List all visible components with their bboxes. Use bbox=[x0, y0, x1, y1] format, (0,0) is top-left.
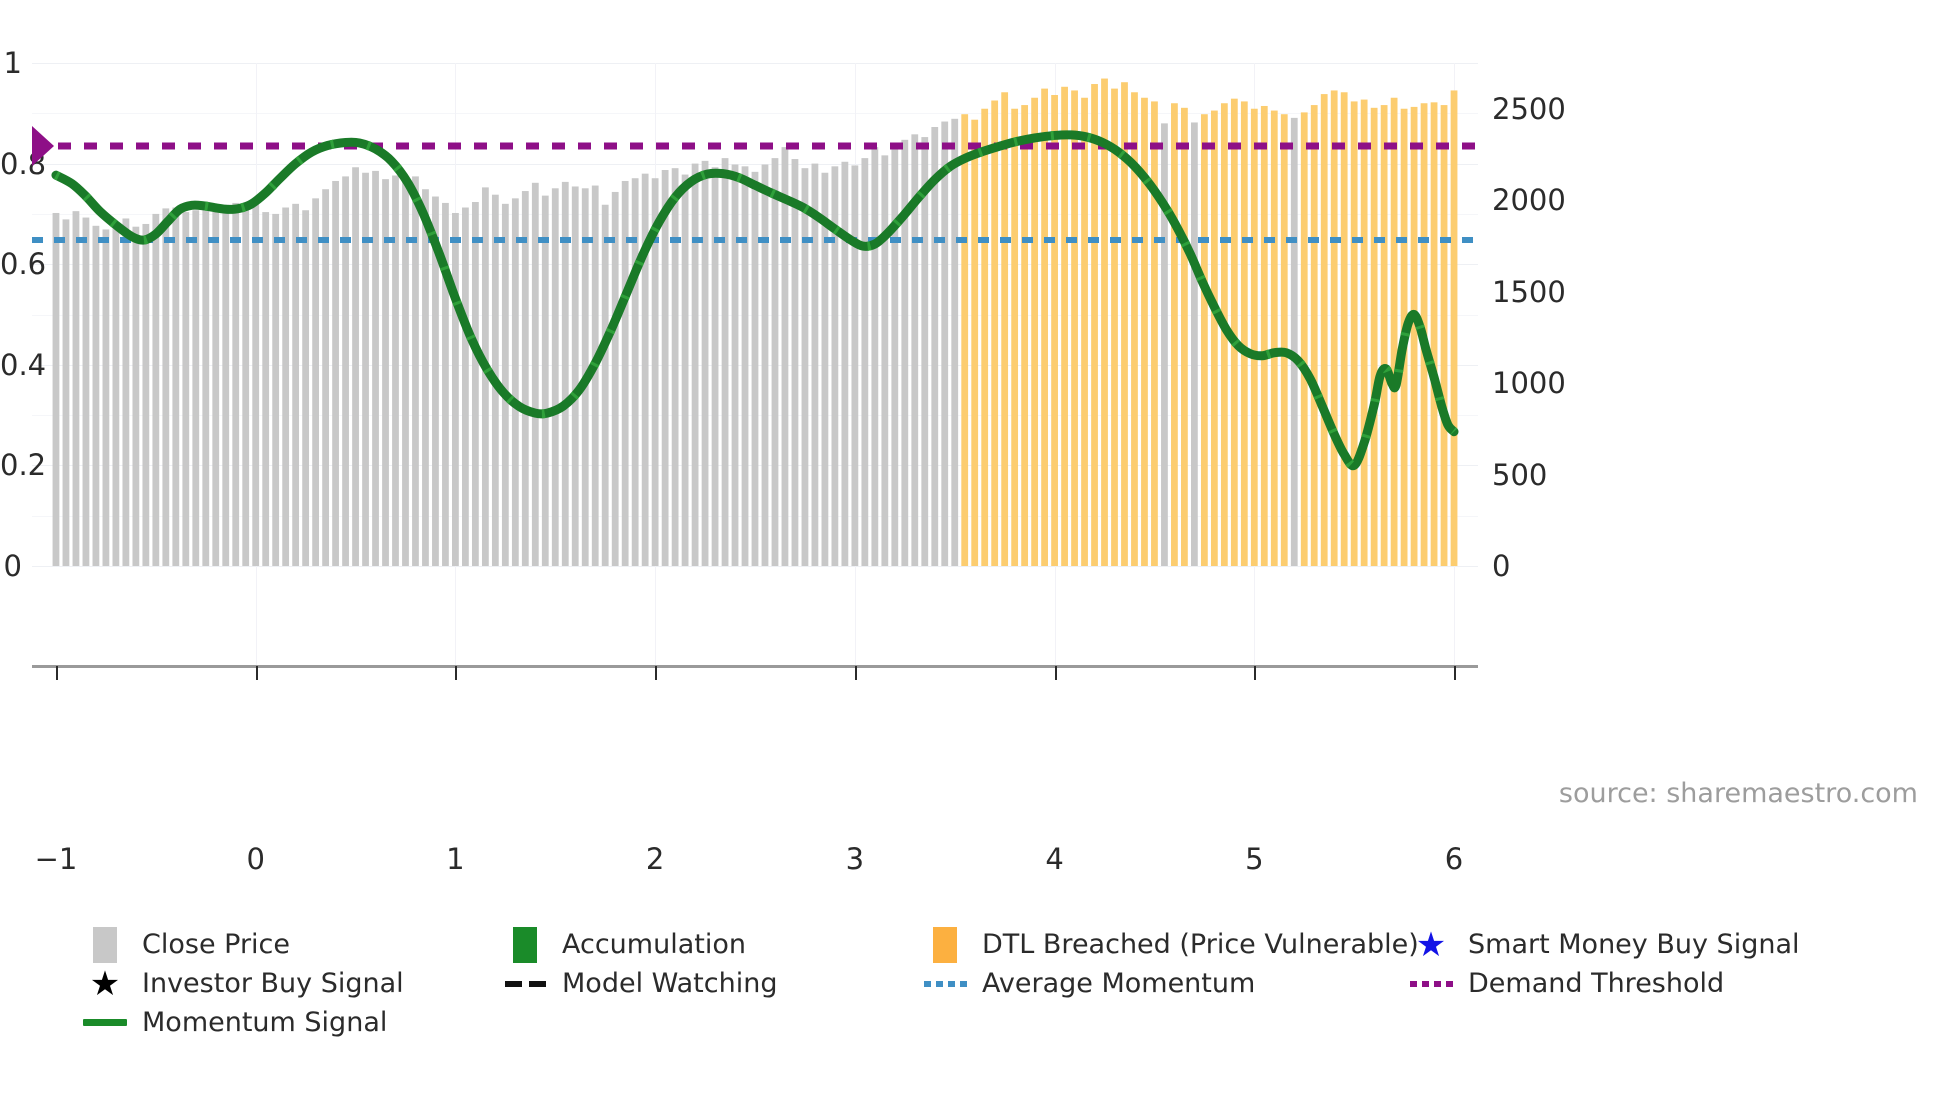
bar bbox=[841, 162, 848, 566]
right-axis-tick-label: 1000 bbox=[1492, 366, 1566, 400]
bar bbox=[1381, 105, 1388, 566]
bar bbox=[412, 176, 419, 566]
bar bbox=[312, 198, 319, 566]
right-axis-tick-label: 1500 bbox=[1492, 275, 1566, 309]
bar bbox=[352, 167, 359, 566]
bar bbox=[1331, 90, 1338, 566]
bar bbox=[1051, 95, 1058, 566]
x-axis-tick-label: 5 bbox=[1245, 842, 1263, 876]
legend-label: Close Price bbox=[134, 929, 290, 960]
grid-line bbox=[32, 566, 1478, 567]
bar bbox=[921, 137, 928, 566]
left-axis-tick-label: 0.8 bbox=[0, 147, 22, 181]
bar bbox=[322, 189, 329, 566]
bar bbox=[782, 147, 789, 566]
bar bbox=[941, 122, 948, 566]
solid-line-icon bbox=[76, 1019, 134, 1026]
x-axis-tick-label: 4 bbox=[1045, 842, 1063, 876]
chart-root: 00.20.40.60.81 05001000150020002500 −101… bbox=[0, 0, 1960, 1102]
legend-row-1: Close Price Accumulation DTL Breached (P… bbox=[76, 925, 1946, 964]
left-axis-tick-label: 0.4 bbox=[0, 348, 22, 382]
bar bbox=[1261, 106, 1268, 566]
bar bbox=[192, 210, 199, 566]
bar bbox=[1241, 101, 1248, 566]
legend-item-model-watching[interactable]: Model Watching bbox=[496, 968, 916, 999]
bar bbox=[132, 227, 139, 566]
bar bbox=[1031, 98, 1038, 566]
bar bbox=[1451, 90, 1458, 566]
bar bbox=[552, 188, 559, 566]
bar bbox=[142, 224, 149, 566]
bar bbox=[672, 168, 679, 566]
square-swatch-icon bbox=[916, 927, 974, 963]
bar bbox=[73, 211, 80, 566]
x-axis-tick-label: 6 bbox=[1445, 842, 1463, 876]
bar bbox=[462, 208, 469, 567]
x-axis-tick-label: 2 bbox=[646, 842, 664, 876]
bar bbox=[1161, 123, 1168, 566]
dotted-line-icon bbox=[1402, 981, 1460, 987]
bar bbox=[1191, 122, 1198, 566]
x-axis-tick bbox=[1254, 666, 1256, 680]
demand-threshold-marker bbox=[32, 126, 54, 166]
bar bbox=[1171, 103, 1178, 566]
bar bbox=[472, 202, 479, 566]
x-axis-tick bbox=[1055, 666, 1057, 680]
bar bbox=[1341, 92, 1348, 566]
right-axis-tick-label: 2000 bbox=[1492, 183, 1566, 217]
x-axis-tick-label: 3 bbox=[846, 842, 864, 876]
source-note: source: sharemaestro.com bbox=[1559, 778, 1918, 809]
bar bbox=[812, 164, 819, 566]
bar bbox=[891, 148, 898, 566]
bar bbox=[682, 175, 689, 566]
bar bbox=[392, 175, 399, 566]
dotted-line-icon bbox=[916, 981, 974, 987]
right-axis-tick-label: 500 bbox=[1492, 458, 1547, 492]
bar bbox=[1281, 114, 1288, 566]
right-axis-tick-label: 0 bbox=[1492, 549, 1510, 583]
legend-item-demand-threshold[interactable]: Demand Threshold bbox=[1402, 968, 1724, 999]
bar bbox=[93, 226, 100, 566]
bar bbox=[702, 161, 709, 566]
bar bbox=[452, 213, 459, 566]
bar bbox=[122, 218, 129, 566]
x-axis-tick-label: 1 bbox=[446, 842, 464, 876]
bar bbox=[232, 203, 239, 566]
bar bbox=[712, 167, 719, 566]
bar bbox=[1301, 112, 1308, 566]
legend-label: DTL Breached (Price Vulnerable) bbox=[974, 929, 1419, 960]
legend-item-close-price[interactable]: Close Price bbox=[76, 927, 496, 963]
bar-series bbox=[53, 79, 1458, 566]
bar bbox=[1321, 94, 1328, 566]
x-axis-tick bbox=[56, 666, 58, 680]
bar bbox=[1181, 108, 1188, 566]
bar bbox=[302, 210, 309, 566]
bar bbox=[991, 101, 998, 567]
bar bbox=[372, 171, 379, 566]
bar bbox=[981, 109, 988, 566]
bar bbox=[272, 214, 279, 566]
bar bbox=[282, 208, 289, 567]
square-swatch-icon bbox=[76, 927, 134, 963]
bar bbox=[532, 183, 539, 566]
chart-canvas bbox=[32, 63, 1478, 566]
legend-item-accumulation[interactable]: Accumulation bbox=[496, 927, 916, 963]
legend-item-investor-buy-signal[interactable]: ★ Investor Buy Signal bbox=[76, 967, 496, 1001]
bar bbox=[1311, 105, 1318, 566]
bar bbox=[722, 158, 729, 566]
bar bbox=[332, 181, 339, 566]
star-icon: ★ bbox=[76, 967, 134, 1001]
bar bbox=[522, 191, 529, 566]
bar bbox=[1081, 98, 1088, 566]
bar bbox=[961, 114, 968, 566]
square-swatch-icon bbox=[496, 927, 554, 963]
bar bbox=[792, 159, 799, 566]
bar bbox=[901, 140, 908, 566]
bar bbox=[172, 208, 179, 567]
x-axis-tick bbox=[655, 666, 657, 680]
bar bbox=[342, 176, 349, 566]
bar bbox=[112, 223, 119, 566]
bar bbox=[1361, 100, 1368, 566]
legend-label: Demand Threshold bbox=[1460, 968, 1724, 999]
bar bbox=[612, 192, 619, 566]
legend-label: Average Momentum bbox=[974, 968, 1255, 999]
bar bbox=[1271, 111, 1278, 566]
bar bbox=[53, 213, 60, 566]
bar bbox=[83, 218, 90, 566]
bar bbox=[1411, 107, 1418, 566]
bar bbox=[1251, 109, 1258, 566]
bar bbox=[1371, 108, 1378, 566]
bar bbox=[1441, 105, 1448, 566]
bar bbox=[182, 212, 189, 566]
bar bbox=[202, 209, 209, 566]
bar bbox=[1091, 84, 1098, 566]
bar bbox=[103, 229, 110, 566]
left-axis-tick-label: 1 bbox=[0, 46, 22, 80]
bar bbox=[752, 172, 759, 566]
legend-item-smart-money-buy-signal[interactable]: ★ Smart Money Buy Signal bbox=[1402, 928, 1800, 962]
bar bbox=[212, 208, 219, 567]
bar bbox=[512, 198, 519, 566]
legend-label: Model Watching bbox=[554, 968, 777, 999]
bar bbox=[1431, 102, 1438, 566]
bar bbox=[1291, 118, 1298, 566]
legend-item-momentum-signal[interactable]: Momentum Signal bbox=[76, 1007, 496, 1038]
legend-label: Investor Buy Signal bbox=[134, 968, 404, 999]
star-icon: ★ bbox=[1402, 928, 1460, 962]
x-axis-tick bbox=[855, 666, 857, 680]
bar bbox=[1021, 105, 1028, 566]
bar bbox=[861, 158, 868, 566]
bar bbox=[931, 127, 938, 566]
bar bbox=[1041, 89, 1048, 566]
bar bbox=[1391, 98, 1398, 566]
legend-row-2: ★ Investor Buy Signal Model Watching Ave… bbox=[76, 964, 1946, 1003]
bar bbox=[162, 208, 169, 566]
bar bbox=[802, 168, 809, 566]
bar bbox=[252, 202, 259, 566]
bar bbox=[292, 204, 299, 566]
bar bbox=[572, 186, 579, 566]
x-axis-tick bbox=[1454, 666, 1456, 680]
bar bbox=[1211, 111, 1218, 566]
bar bbox=[402, 178, 409, 566]
bar bbox=[542, 196, 549, 566]
bar bbox=[951, 119, 958, 566]
bar bbox=[63, 219, 70, 566]
right-axis-tick-label: 2500 bbox=[1492, 92, 1566, 126]
legend-label: Smart Money Buy Signal bbox=[1460, 929, 1800, 960]
plot-area bbox=[32, 63, 1478, 566]
bar bbox=[642, 174, 649, 566]
bar bbox=[822, 173, 829, 566]
bar bbox=[222, 205, 229, 566]
bar bbox=[1201, 114, 1208, 566]
bar bbox=[762, 165, 769, 566]
legend-row-3: Momentum Signal bbox=[76, 1003, 1946, 1042]
legend-label: Accumulation bbox=[554, 929, 746, 960]
bar bbox=[1061, 87, 1068, 566]
bar bbox=[242, 208, 249, 566]
x-axis-tick-label: 0 bbox=[246, 842, 264, 876]
bar bbox=[362, 173, 369, 566]
bar bbox=[262, 212, 269, 566]
bar bbox=[1071, 90, 1078, 566]
legend-item-dtl-breached[interactable]: DTL Breached (Price Vulnerable) bbox=[916, 927, 1402, 963]
bar bbox=[602, 205, 609, 566]
bar bbox=[971, 120, 978, 566]
bar bbox=[1101, 79, 1108, 566]
bar bbox=[632, 178, 639, 566]
bar bbox=[662, 170, 669, 566]
bar bbox=[881, 155, 888, 566]
chart-legend: Close Price Accumulation DTL Breached (P… bbox=[76, 925, 1946, 1042]
bar bbox=[742, 166, 749, 566]
dashed-line-icon bbox=[496, 981, 554, 987]
bar bbox=[692, 164, 699, 566]
bar bbox=[871, 147, 878, 566]
bar bbox=[1351, 101, 1358, 566]
bar bbox=[152, 214, 159, 566]
bar bbox=[1001, 92, 1008, 566]
bar bbox=[1111, 89, 1118, 566]
x-axis-tick bbox=[455, 666, 457, 680]
left-axis-tick-label: 0.6 bbox=[0, 247, 22, 281]
left-axis-tick-label: 0.2 bbox=[0, 448, 22, 482]
bar bbox=[1151, 101, 1158, 566]
bar bbox=[851, 165, 858, 566]
bar bbox=[422, 189, 429, 566]
bar bbox=[1011, 109, 1018, 566]
legend-label: Momentum Signal bbox=[134, 1007, 387, 1038]
x-axis-line bbox=[32, 665, 1478, 668]
x-axis-tick-label: −1 bbox=[35, 842, 78, 876]
left-axis-tick-label: 0 bbox=[0, 549, 22, 583]
x-axis-tick bbox=[256, 666, 258, 680]
bar bbox=[502, 204, 509, 566]
legend-item-average-momentum[interactable]: Average Momentum bbox=[916, 968, 1402, 999]
bar bbox=[772, 158, 779, 566]
bar bbox=[732, 165, 739, 566]
